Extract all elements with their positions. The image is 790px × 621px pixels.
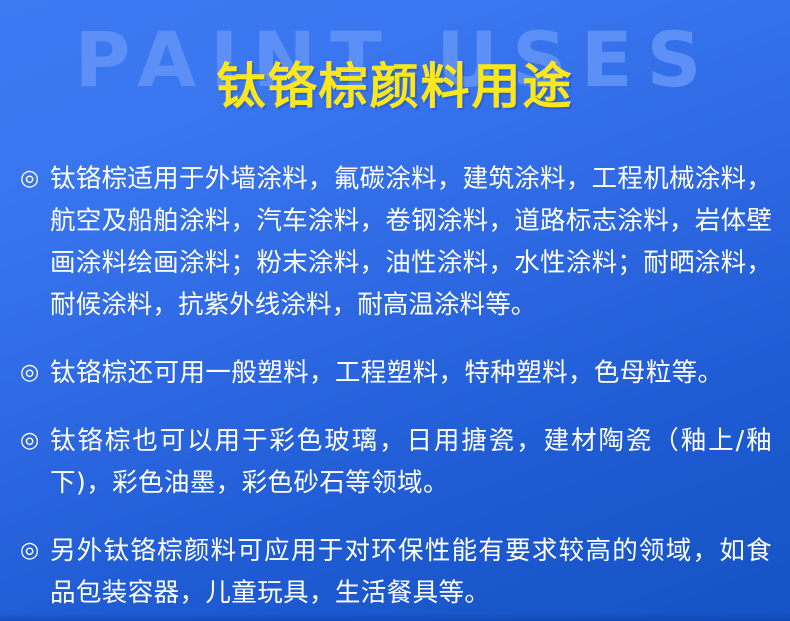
list-item: ◎ 钛铬棕还可用一般塑料，工程塑料，特种塑料，色母粒等。 <box>20 352 772 394</box>
bullet-list: ◎ 钛铬棕适用于外墙涂料，氟碳涂料，建筑涂料，工程机械涂料，航空及船舶涂料，汽车… <box>0 158 790 614</box>
list-item-text: 钛铬棕还可用一般塑料，工程塑料，特种塑料，色母粒等。 <box>50 352 772 394</box>
list-item: ◎ 钛铬棕也可以用于彩色玻璃，日用搪瓷，建材陶瓷（釉上/釉下)，彩色油墨，彩色砂… <box>20 420 772 504</box>
header-body-spacer <box>0 146 790 158</box>
list-item: ◎ 另外钛铬棕颜料可应用于对环保性能有要求较高的领域，如食品包装容器，儿童玩具，… <box>20 530 772 614</box>
poster-header: PAINT USES 钛铬棕颜料用途 <box>0 0 790 146</box>
list-item-text: 另外钛铬棕颜料可应用于对环保性能有要求较高的领域，如食品包装容器，儿童玩具，生活… <box>50 530 772 614</box>
poster-canvas: PAINT USES 钛铬棕颜料用途 ◎ 钛铬棕适用于外墙涂料，氟碳涂料，建筑涂… <box>0 0 790 621</box>
page-title: 钛铬棕颜料用途 <box>0 58 790 116</box>
bullet-circle-icon: ◎ <box>20 420 50 462</box>
bullet-circle-icon: ◎ <box>20 530 50 572</box>
list-item: ◎ 钛铬棕适用于外墙涂料，氟碳涂料，建筑涂料，工程机械涂料，航空及船舶涂料，汽车… <box>20 158 772 326</box>
bullet-circle-icon: ◎ <box>20 352 50 394</box>
bullet-circle-icon: ◎ <box>20 158 50 200</box>
list-item-text: 钛铬棕适用于外墙涂料，氟碳涂料，建筑涂料，工程机械涂料，航空及船舶涂料，汽车涂料… <box>50 158 772 326</box>
list-item-text: 钛铬棕也可以用于彩色玻璃，日用搪瓷，建材陶瓷（釉上/釉下)，彩色油墨，彩色砂石等… <box>50 420 772 504</box>
